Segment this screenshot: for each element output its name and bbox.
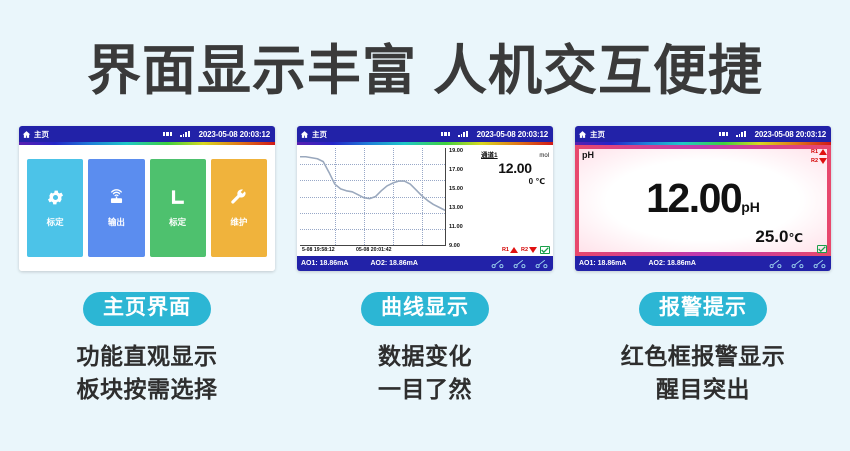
- ok-badge-icon[interactable]: [817, 245, 827, 253]
- y-tick-1: 17.00: [449, 167, 463, 173]
- trend-line: [300, 148, 445, 245]
- reading-panel: 通道1 mol 12.00 0 ℃ R1 R2: [479, 145, 553, 256]
- tile-label: 输出: [108, 216, 125, 228]
- status-bar-datetime: 2023-05-08 20:03:12: [755, 130, 828, 139]
- status-bar: 主页 2023-05-08 20:03:12: [19, 126, 275, 142]
- parameter-label: pH: [582, 150, 594, 160]
- caption-line: 数据变化: [297, 340, 553, 373]
- battery-icon: [719, 132, 729, 136]
- battery-icon: [441, 132, 451, 136]
- wrench-icon: [229, 188, 248, 207]
- ao2-value: AO2: 18.86mA: [370, 260, 417, 267]
- y-axis-labels: 19.00 17.00 15.00 13.00 11.00 9.00: [447, 145, 479, 249]
- tile-calibration-2[interactable]: 标定: [150, 159, 206, 257]
- reading-temperature: 0 ℃: [481, 177, 549, 186]
- page-title: 界面显示丰富 人机交互便捷: [0, 26, 850, 105]
- promo-page: 界面显示丰富 人机交互便捷 主页 2023-05-08 20:03:12: [0, 0, 850, 451]
- tile-calibration-1[interactable]: 标定: [27, 159, 83, 257]
- x-tick-1: 05-08 20:01:42: [356, 247, 391, 253]
- home-tiles: 标定 输出: [19, 145, 275, 271]
- relay-2-status: R2: [521, 247, 537, 253]
- plot-column: 5-08 19:58:12 05-08 20:01:42: [297, 145, 447, 256]
- tile-label: 标定: [47, 216, 64, 228]
- ao-bar: AO1: 18.86mA AO2: 18.86mA: [575, 256, 831, 271]
- relay-icon-group: [491, 257, 548, 271]
- caption-line: 红色框报警显示: [575, 340, 831, 373]
- home-icon[interactable]: [578, 130, 587, 139]
- y-tick-5: 9.00: [449, 243, 460, 249]
- device-screen-alarm[interactable]: 主页 2023-05-08 20:03:12 pH R1: [575, 126, 831, 271]
- relay-1-status: R1: [502, 247, 518, 253]
- caption-line: 醒目突出: [575, 373, 831, 406]
- relay-2-icon[interactable]: [791, 257, 804, 271]
- x-tick-0: 5-08 19:58:12: [302, 247, 335, 253]
- relay-2-icon[interactable]: [513, 257, 526, 271]
- home-icon[interactable]: [22, 130, 31, 139]
- ao1-value: AO1: 18.86mA: [579, 260, 626, 267]
- temperature-reading: 25.0℃: [755, 227, 803, 247]
- relay-status-column: R1 R2: [811, 149, 827, 164]
- status-bar-title: 主页: [312, 129, 327, 140]
- main-reading-unit: pH: [741, 199, 760, 215]
- ok-badge-icon[interactable]: [540, 246, 550, 254]
- caption-line: 板块按需选择: [19, 373, 275, 406]
- device-panels: 主页 2023-05-08 20:03:12 标定: [0, 126, 850, 271]
- badge-row: 主页界面 曲线显示 报警提示: [0, 292, 850, 326]
- y-tick-0: 19.00: [449, 148, 463, 154]
- ao2-value: AO2: 18.86mA: [648, 260, 695, 267]
- badge-cell-curve: 曲线显示: [297, 292, 553, 326]
- relay-status-row: R1 R2: [502, 246, 550, 254]
- badge-cell-home: 主页界面: [19, 292, 275, 326]
- relay-2-label: R2: [811, 158, 818, 164]
- caption-curve: 数据变化 一目了然: [297, 340, 553, 407]
- caption-row: 功能直观显示 板块按需选择 数据变化 一目了然 红色框报警显示 醒目突出: [0, 340, 850, 407]
- status-bar-datetime: 2023-05-08 20:03:12: [199, 130, 272, 139]
- caption-line: 一目了然: [297, 373, 553, 406]
- caption-line: 功能直观显示: [19, 340, 275, 373]
- relay-1-label: R1: [811, 149, 818, 155]
- triangle-down-icon: [529, 247, 537, 253]
- unit-label: mol: [539, 153, 549, 159]
- device-screen-curve[interactable]: 主页 2023-05-08 20:03:12: [297, 126, 553, 271]
- panel-home: 主页 2023-05-08 20:03:12 标定: [19, 126, 275, 271]
- ao1-value: AO1: 18.86mA: [301, 260, 348, 267]
- reading-header: 通道1 mol: [481, 149, 549, 159]
- signal-icon: [458, 131, 467, 138]
- panel-curve: 主页 2023-05-08 20:03:12: [297, 126, 553, 271]
- y-tick-2: 15.00: [449, 186, 463, 192]
- tile-maintenance[interactable]: 维护: [211, 159, 267, 257]
- status-bar-title: 主页: [590, 129, 605, 140]
- relay-icon-group: [769, 257, 826, 271]
- triangle-up-icon: [510, 247, 518, 253]
- ruler-icon: [168, 188, 187, 207]
- status-bar: 主页 2023-05-08 20:03:12: [297, 126, 553, 142]
- relay-2-status: R2: [811, 158, 827, 164]
- plot-area: [300, 148, 446, 246]
- status-bar: 主页 2023-05-08 20:03:12: [575, 126, 831, 142]
- channel-label: 通道1: [481, 149, 498, 159]
- temperature-value: 25.0: [755, 227, 788, 246]
- badge-cell-alarm: 报警提示: [575, 292, 831, 326]
- triangle-down-icon: [819, 158, 827, 164]
- y-tick-4: 11.00: [449, 224, 463, 230]
- alarm-content: pH R1 R2 12.00pH: [575, 145, 831, 256]
- relay-3-icon[interactable]: [535, 257, 548, 271]
- caption-alarm: 红色框报警显示 醒目突出: [575, 340, 831, 407]
- relay-3-icon[interactable]: [813, 257, 826, 271]
- tile-label: 维护: [230, 216, 247, 228]
- badge-curve: 曲线显示: [361, 292, 489, 326]
- caption-home: 功能直观显示 板块按需选择: [19, 340, 275, 407]
- tile-label: 标定: [169, 216, 186, 228]
- battery-icon: [163, 132, 173, 136]
- device-screen-home[interactable]: 主页 2023-05-08 20:03:12 标定: [19, 126, 275, 271]
- badge-alarm: 报警提示: [639, 292, 767, 326]
- alarm-display: pH R1 R2 12.00pH: [575, 145, 831, 256]
- gear-icon: [46, 188, 65, 207]
- status-bar-datetime: 2023-05-08 20:03:12: [477, 130, 550, 139]
- main-reading-value: 12.00: [646, 175, 741, 221]
- x-axis-labels: 5-08 19:58:12 05-08 20:01:42: [300, 247, 450, 256]
- triangle-up-icon: [819, 149, 827, 155]
- relay-1-icon[interactable]: [769, 257, 782, 271]
- signal-icon: [180, 131, 189, 138]
- relay-1-icon[interactable]: [491, 257, 504, 271]
- relay-2-label: R2: [521, 247, 528, 253]
- signal-icon: [736, 131, 745, 138]
- temperature-unit: ℃: [788, 231, 803, 245]
- antenna-icon: [107, 188, 126, 207]
- home-icon[interactable]: [300, 130, 309, 139]
- panel-alarm: 主页 2023-05-08 20:03:12 pH R1: [575, 126, 831, 271]
- main-reading: 12.00pH: [575, 175, 831, 222]
- trend-chart[interactable]: 5-08 19:58:12 05-08 20:01:42 19.00 17.00…: [297, 145, 553, 256]
- y-tick-3: 13.00: [449, 205, 463, 211]
- tile-output[interactable]: 输出: [88, 159, 144, 257]
- relay-1-label: R1: [502, 247, 509, 253]
- relay-1-status: R1: [811, 149, 827, 155]
- ao-bar: AO1: 18.86mA AO2: 18.86mA: [297, 256, 553, 271]
- reading-value: 12.00: [481, 160, 549, 176]
- status-bar-title: 主页: [34, 129, 49, 140]
- badge-home: 主页界面: [83, 292, 211, 326]
